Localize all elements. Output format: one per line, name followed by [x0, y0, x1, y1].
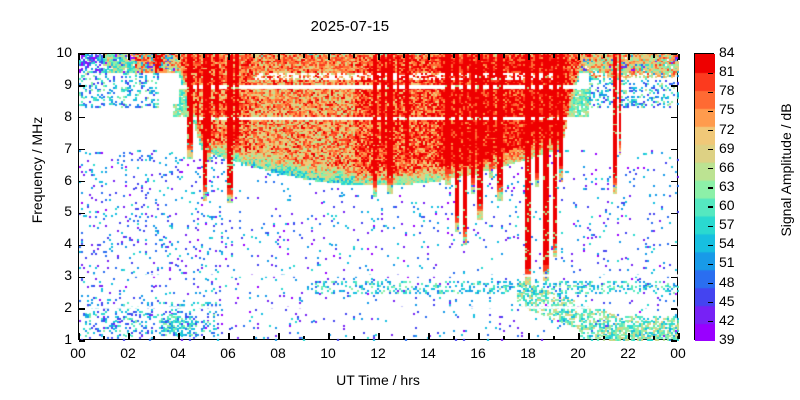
- x-axis-tick: [328, 333, 329, 339]
- y-axis-tick: [79, 277, 85, 278]
- x-axis-tick-label: 02: [108, 345, 148, 361]
- y-axis-tick: [671, 53, 677, 54]
- page-title: 2025-07-15: [0, 18, 700, 35]
- x-axis-tick: [128, 333, 129, 339]
- colorbar-tick-label: 48: [719, 274, 735, 290]
- colorbar-tick-label: 54: [719, 235, 735, 251]
- colorbar-tick-label: 42: [719, 312, 735, 328]
- x-axis-minor-tick: [303, 336, 304, 340]
- y-axis-tick-label: 9: [48, 76, 72, 92]
- x-axis-tick: [178, 54, 179, 60]
- y-axis-tick: [671, 85, 677, 86]
- x-axis-tick: [78, 54, 79, 60]
- y-axis-tick: [79, 181, 85, 182]
- x-axis-minor-tick: [403, 54, 404, 58]
- y-axis-label: Frequency / MHz: [29, 50, 45, 290]
- x-axis-minor-tick: [353, 54, 354, 58]
- x-axis-tick-label: 20: [558, 345, 598, 361]
- colorbar-tick: [708, 302, 713, 303]
- x-axis-tick: [328, 54, 329, 60]
- y-axis-tick: [671, 277, 677, 278]
- x-axis-minor-tick: [403, 336, 404, 340]
- y-axis-tick: [79, 245, 85, 246]
- x-axis-tick: [578, 333, 579, 339]
- x-axis-tick-label: 00: [658, 345, 698, 361]
- x-axis-tick: [128, 54, 129, 60]
- x-axis-tick: [528, 54, 529, 60]
- x-axis-tick: [628, 54, 629, 60]
- spectrogram-figure: 2025-07-15 Frequency / MHz UT Time / hrs…: [0, 0, 800, 400]
- x-axis-tick-label: 06: [208, 345, 248, 361]
- x-axis-minor-tick: [503, 336, 504, 340]
- colorbar-tick: [708, 226, 713, 227]
- colorbar-tick: [708, 245, 713, 246]
- x-axis-tick: [678, 333, 679, 339]
- x-axis-tick: [578, 54, 579, 60]
- x-axis-tick: [78, 333, 79, 339]
- x-axis-tick: [278, 333, 279, 339]
- x-axis-tick-label: 18: [508, 345, 548, 361]
- y-axis-tick: [79, 53, 85, 54]
- x-axis-tick: [378, 54, 379, 60]
- y-axis-tick: [79, 340, 85, 341]
- x-axis-tick: [278, 54, 279, 60]
- x-axis-tick: [228, 54, 229, 60]
- y-axis-tick: [671, 308, 677, 309]
- y-axis-tick: [79, 213, 85, 214]
- colorbar-tick-label: 84: [719, 44, 735, 60]
- y-axis-tick: [671, 117, 677, 118]
- colorbar-tick: [708, 92, 713, 93]
- x-axis-minor-tick: [203, 54, 204, 58]
- x-axis-minor-tick: [253, 54, 254, 58]
- x-axis-minor-tick: [103, 54, 104, 58]
- x-axis-minor-tick: [603, 54, 604, 58]
- x-axis-tick: [628, 333, 629, 339]
- x-axis-tick: [378, 333, 379, 339]
- colorbar-tick: [708, 111, 713, 112]
- y-axis-tick: [79, 308, 85, 309]
- x-axis-tick: [528, 333, 529, 339]
- y-axis-tick: [671, 245, 677, 246]
- colorbar-tick: [708, 168, 713, 169]
- x-axis-minor-tick: [253, 336, 254, 340]
- colorbar-gradient: [695, 54, 715, 341]
- colorbar-tick-label: 45: [719, 293, 735, 309]
- colorbar-tick-label: 81: [719, 63, 735, 79]
- x-axis-minor-tick: [653, 336, 654, 340]
- x-axis-minor-tick: [203, 336, 204, 340]
- x-axis-tick-label: 12: [358, 345, 398, 361]
- y-axis-tick-label: 7: [48, 140, 72, 156]
- colorbar-tick-label: 72: [719, 121, 735, 137]
- x-axis-tick-label: 00: [58, 345, 98, 361]
- y-axis-tick-label: 2: [48, 299, 72, 315]
- colorbar-label: Signal Amplitude / dB: [778, 50, 794, 290]
- y-axis-tick-label: 8: [48, 108, 72, 124]
- y-axis-tick: [671, 213, 677, 214]
- colorbar-tick-label: 60: [719, 197, 735, 213]
- colorbar-tick-label: 75: [719, 101, 735, 117]
- y-axis-tick: [671, 181, 677, 182]
- colorbar-tick: [708, 73, 713, 74]
- x-axis-minor-tick: [553, 336, 554, 340]
- colorbar-tick-label: 63: [719, 178, 735, 194]
- y-axis-tick: [79, 149, 85, 150]
- plot-axes: [78, 53, 678, 340]
- x-axis-minor-tick: [353, 336, 354, 340]
- x-axis-minor-tick: [453, 336, 454, 340]
- x-axis-tick-label: 08: [258, 345, 298, 361]
- colorbar-tick: [708, 321, 713, 322]
- x-axis-tick: [678, 54, 679, 60]
- y-axis-tick-label: 1: [48, 331, 72, 347]
- colorbar-tick-label: 51: [719, 254, 735, 270]
- x-axis-tick-label: 10: [308, 345, 348, 361]
- x-axis-tick: [478, 54, 479, 60]
- colorbar-tick: [708, 187, 713, 188]
- y-axis-tick-label: 5: [48, 203, 72, 219]
- colorbar: [694, 53, 714, 340]
- x-axis-tick-label: 22: [608, 345, 648, 361]
- x-axis-tick: [178, 333, 179, 339]
- colorbar-tick: [708, 283, 713, 284]
- x-axis-label: UT Time / hrs: [78, 372, 678, 388]
- x-axis-tick-label: 04: [158, 345, 198, 361]
- y-axis-tick-label: 3: [48, 267, 72, 283]
- y-axis-tick: [671, 340, 677, 341]
- x-axis-tick: [428, 333, 429, 339]
- x-axis-tick-label: 14: [408, 345, 448, 361]
- x-axis-tick: [428, 54, 429, 60]
- colorbar-tick-label: 39: [719, 331, 735, 347]
- colorbar-tick: [708, 130, 713, 131]
- colorbar-tick: [708, 264, 713, 265]
- spectrogram-heatmap: [79, 54, 679, 341]
- x-axis-minor-tick: [653, 54, 654, 58]
- colorbar-tick-label: 57: [719, 216, 735, 232]
- x-axis-minor-tick: [553, 54, 554, 58]
- colorbar-tick-label: 69: [719, 140, 735, 156]
- y-axis-tick: [79, 85, 85, 86]
- x-axis-tick: [228, 333, 229, 339]
- x-axis-minor-tick: [453, 54, 454, 58]
- y-axis-tick: [79, 117, 85, 118]
- x-axis-minor-tick: [303, 54, 304, 58]
- x-axis-tick-label: 16: [458, 345, 498, 361]
- y-axis-tick-label: 4: [48, 235, 72, 251]
- colorbar-tick-label: 66: [719, 159, 735, 175]
- x-axis-minor-tick: [603, 336, 604, 340]
- colorbar-tick-label: 78: [719, 82, 735, 98]
- x-axis-minor-tick: [153, 54, 154, 58]
- colorbar-tick: [708, 149, 713, 150]
- x-axis-minor-tick: [153, 336, 154, 340]
- y-axis-tick-label: 6: [48, 172, 72, 188]
- y-axis-tick: [671, 149, 677, 150]
- colorbar-tick: [708, 206, 713, 207]
- x-axis-minor-tick: [503, 54, 504, 58]
- y-axis-tick-label: 10: [48, 44, 72, 60]
- x-axis-minor-tick: [103, 336, 104, 340]
- x-axis-tick: [478, 333, 479, 339]
